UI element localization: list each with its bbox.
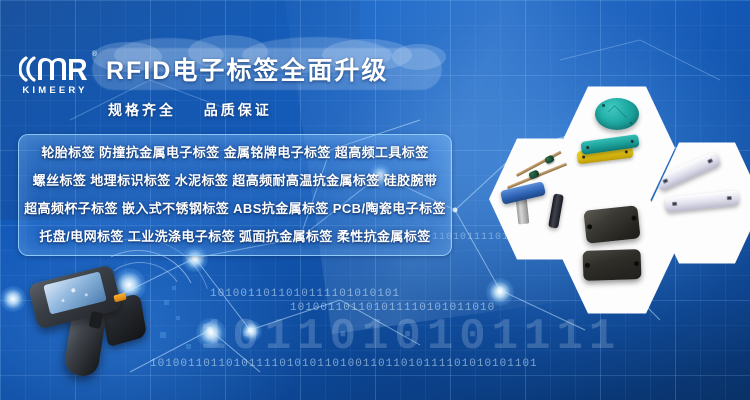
tag-mount-hole (586, 146, 589, 149)
brand-logo: ® KIMEERY (14, 52, 96, 108)
tag-mount-hole (631, 215, 636, 220)
black-rect-anti-metal-tag (583, 205, 640, 243)
binary-watermark: 1011010101111 (200, 312, 621, 362)
decor-chip (186, 344, 191, 349)
subtitle-row: 规格齐全 品质保证 (108, 100, 272, 120)
tag-list-row: 轮胎标签 防撞抗金属电子标签 金属铭牌电子标签 超高频工具标签 (19, 139, 451, 167)
product-tag-list-box: 轮胎标签 防撞抗金属电子标签 金属铭牌电子标签 超高频工具标签 螺丝标签 地理标… (18, 134, 452, 256)
screen-icon (84, 293, 88, 297)
logo-mark: ® (14, 52, 96, 86)
subtitle-text-1: 规格齐全 (108, 102, 176, 118)
tag-mount-hole (634, 261, 639, 266)
decor-chip (172, 286, 176, 290)
binary-line: 101001101101011110101011010 (290, 302, 495, 314)
kmr-monogram-icon (19, 54, 91, 84)
binary-line: 1010011011010111101010101 (210, 288, 400, 300)
white-bar-tag (664, 190, 739, 213)
glass-tube-chip (528, 169, 540, 179)
decor-chip (164, 300, 169, 305)
stick-anti-metal-tag (548, 193, 564, 228)
tag-mount-hole (630, 122, 633, 125)
brand-wordmark: KIMEERY (14, 85, 96, 96)
tag-mount-hole (587, 224, 592, 229)
tag-mount-hole (727, 196, 732, 201)
glow-node (196, 318, 226, 348)
headline-text: RFID电子标签全面升级 (92, 48, 442, 90)
black-rect-anti-metal-tag (582, 249, 641, 281)
screen-icon (61, 299, 65, 303)
decor-chip (176, 316, 180, 320)
headline-banner: RFID电子标签全面升级 (92, 48, 442, 90)
decor-chip (160, 332, 166, 338)
tag-mount-hole (707, 158, 713, 164)
glow-node (486, 278, 514, 306)
tag-mount-hole (625, 150, 628, 153)
subtitle-text-2: 品质保证 (204, 102, 272, 118)
glow-node (0, 286, 26, 312)
tag-emboss-mark (608, 106, 627, 125)
rfid-promo-banner: 1011010101111 1010011011010111101010101 … (0, 0, 750, 400)
binary-line: 1010011011010111101010110100110110101111… (150, 358, 538, 370)
tag-list-row: 超高频杯子标签 嵌入式不锈钢标签 ABS抗金属标签 PCB/陶瓷电子标签 (19, 195, 451, 223)
tag-mount-hole (602, 104, 605, 107)
round-anti-metal-tag (595, 98, 639, 130)
tag-list-row: 螺丝标签 地理标识标签 水泥标签 超高频耐高温抗金属标签 硅胶腕带 (19, 167, 451, 195)
tag-mount-hole (672, 202, 677, 207)
tag-mount-hole (631, 140, 634, 143)
tag-mount-hole (585, 263, 590, 268)
glow-node (240, 320, 262, 342)
tag-list-row: 托盘/电网标签 工业洗涤电子标签 弧面抗金属标签 柔性抗金属标签 (19, 223, 451, 251)
tag-mount-hole (582, 155, 585, 158)
tag-mount-hole (662, 178, 668, 184)
screw-tag-shaft (516, 197, 530, 224)
screen-icon (71, 288, 76, 293)
handheld-rfid-reader (26, 268, 154, 390)
